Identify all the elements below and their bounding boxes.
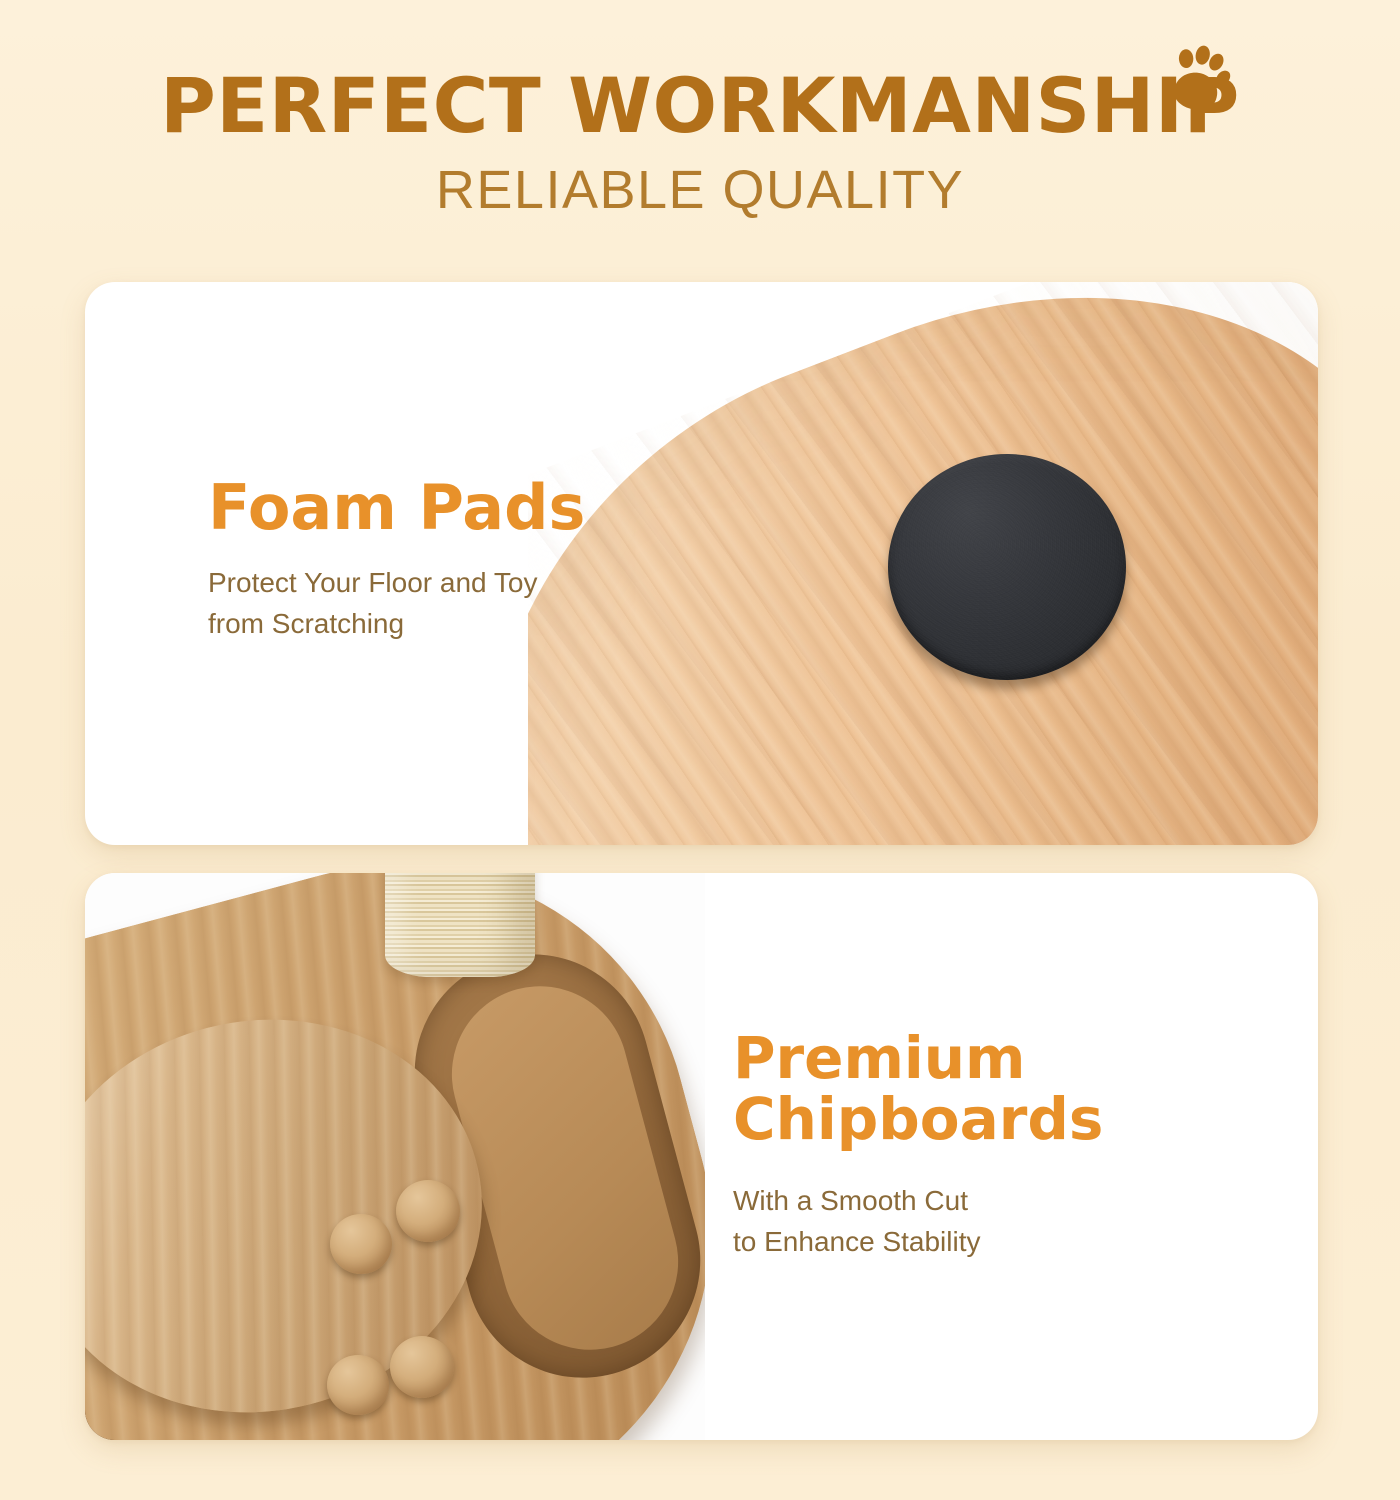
premium-chipboards-text-block: Premium Chipboards With a Smooth Cut to … <box>733 1028 1103 1263</box>
feature-card-premium-chipboards: Premium Chipboards With a Smooth Cut to … <box>85 873 1318 1440</box>
page-subtitle: RELIABLE QUALITY <box>0 163 1400 217</box>
wooden-ball <box>327 1355 389 1415</box>
promo-page: PERFECT WORKMANSHIP RELIABLE QUALITY Foa… <box>0 0 1400 1500</box>
foam-pad-texture <box>888 454 1126 680</box>
foam-pads-description: Protect Your Floor and Toy from Scratchi… <box>208 563 585 645</box>
pine-board-with-black-foam-pad-photo <box>528 282 1318 845</box>
wooden-ball <box>396 1180 460 1242</box>
premium-chipboards-description: With a Smooth Cut to Enhance Stability <box>733 1181 1103 1263</box>
foam-pads-title: Foam Pads <box>208 475 585 541</box>
wooden-ball <box>390 1336 454 1398</box>
feature-card-foam-pads: Foam Pads Protect Your Floor and Toy fro… <box>85 282 1318 845</box>
premium-chipboards-title: Premium Chipboards <box>733 1028 1103 1151</box>
wooden-ball <box>330 1214 392 1274</box>
black-foam-pad <box>888 454 1126 680</box>
sisal-scratching-post <box>385 873 535 977</box>
foam-pads-text-block: Foam Pads Protect Your Floor and Toy fro… <box>208 475 585 644</box>
header-banner: PERFECT WORKMANSHIP RELIABLE QUALITY <box>0 0 1400 265</box>
